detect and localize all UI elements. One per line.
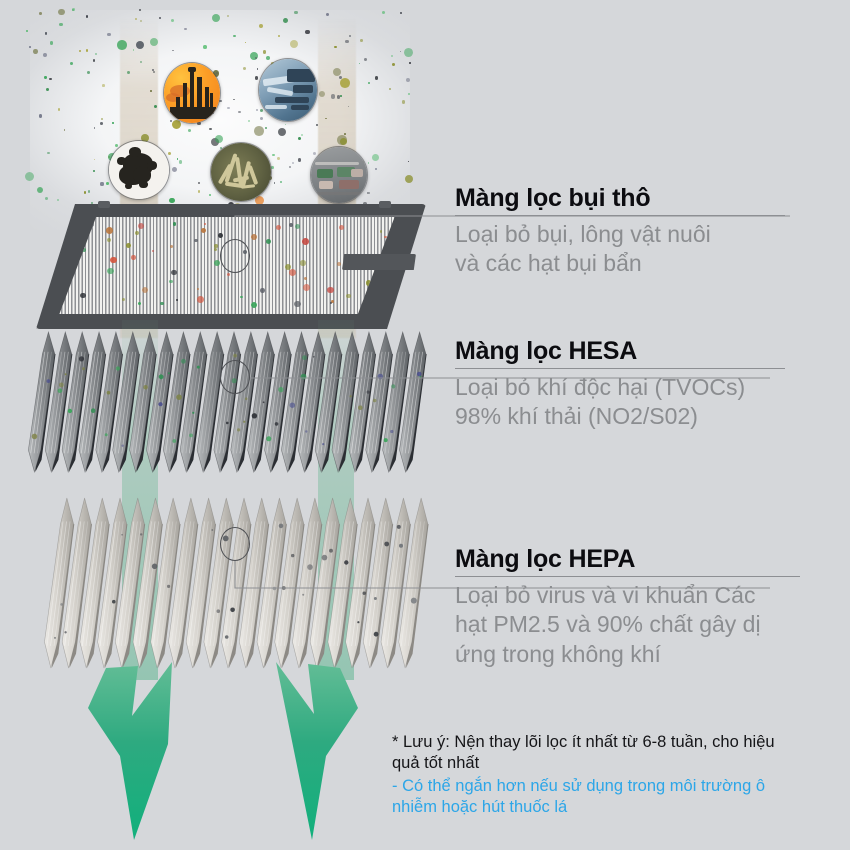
hesa-filter-callout-ring	[220, 360, 250, 394]
hepa-filter-title: Màng lọc HEPA	[455, 545, 800, 573]
hepa-pleated-layer	[58, 498, 430, 668]
footnote-note-primary: * Lưu ý: Nện thay lõi lọc ít nhất từ 6-8…	[392, 732, 842, 775]
hesa-filter-description: Loại bỏ khí độc hại (TVOCs) 98% khí thải…	[455, 373, 785, 432]
hepa-filter-callout-ring	[220, 527, 250, 561]
section-hesa-filter: Màng lọc HESA Loại bỏ khí độc hại (TVOCs…	[455, 337, 785, 432]
infographic-canvas: Màng lọc bụi thô Loại bỏ bụi, lông vật n…	[0, 0, 850, 850]
hepa-filter-rule	[455, 576, 800, 577]
coarse-filter-title: Màng lọc bụi thô	[455, 184, 785, 212]
section-coarse-dust-filter: Màng lọc bụi thô Loại bỏ bụi, lông vật n…	[455, 184, 785, 279]
hesa-filter-rule	[455, 368, 785, 369]
filter-stack-illustration	[0, 0, 450, 850]
dust-dirt-photo	[108, 140, 170, 200]
hesa-filter-title: Màng lọc HESA	[455, 337, 785, 365]
hesa-pleated-layer	[40, 332, 428, 472]
traffic-photo	[310, 146, 368, 204]
section-hepa-filter: Màng lọc HEPA Loại bỏ virus và vi khuẩn …	[455, 545, 800, 669]
footnote-note-secondary: - Có thể ngắn hơn nếu sử dụng trong môi …	[392, 776, 842, 819]
coarse-filter-callout-ring	[220, 239, 250, 273]
mould-pollen-photo	[210, 142, 272, 202]
factory-smokestack-photo	[163, 62, 221, 124]
coarse-filter-rule	[455, 215, 785, 216]
hepa-filter-description: Loại bỏ virus và vi khuẩn Các hạt PM2.5 …	[455, 581, 800, 669]
footnote: * Lưu ý: Nện thay lõi lọc ít nhất từ 6-8…	[392, 732, 842, 819]
coarse-filter-description: Loại bỏ bụi, lông vật nuôi và các hạt bụ…	[455, 220, 785, 279]
vehicle-exhaust-photo	[258, 58, 318, 122]
